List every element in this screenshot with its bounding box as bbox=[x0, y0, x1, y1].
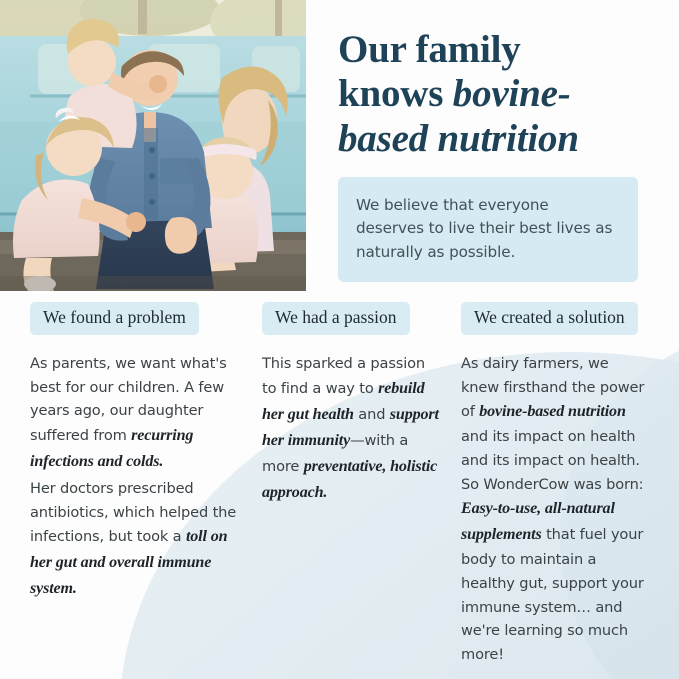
story-column-solution: We created a solution As dairy farmers, … bbox=[461, 302, 651, 666]
story-heading-passion: We had a passion bbox=[262, 302, 410, 335]
hero-right: Our family knows bovine- based nutrition… bbox=[338, 28, 658, 282]
headline-line-2: knows bovine- bbox=[338, 72, 658, 116]
plain-text: and its impact on health and its impact … bbox=[461, 428, 643, 492]
emphasis-text: bovine-based nutrition bbox=[479, 403, 625, 420]
plain-text: that fuel your body to maintain a health… bbox=[461, 526, 644, 663]
belief-quote-text: We believe that everyone deserves to liv… bbox=[356, 194, 620, 263]
plain-text: and bbox=[354, 406, 390, 423]
plain-text: As parents, we want what's best for our … bbox=[30, 355, 227, 444]
page-root: Our family knows bovine- based nutrition… bbox=[0, 0, 679, 679]
story-body-passion: This sparked a passion to find a way to … bbox=[262, 352, 442, 506]
story-body-problem: As parents, we want what's best for our … bbox=[30, 352, 245, 603]
story-paragraph: This sparked a passion to find a way to … bbox=[262, 352, 442, 506]
story-paragraph: As dairy farmers, we knew firsthand the … bbox=[461, 352, 651, 667]
story-column-problem: We found a problem As parents, we want w… bbox=[30, 302, 245, 602]
headline-line-2-plain: knows bbox=[338, 72, 453, 115]
story-heading-solution: We created a solution bbox=[461, 302, 638, 335]
story-paragraph: Her doctors prescribed antibiotics, whic… bbox=[30, 477, 245, 602]
belief-quote-box: We believe that everyone deserves to liv… bbox=[338, 177, 638, 281]
story-paragraph: As parents, we want what's best for our … bbox=[30, 352, 245, 475]
headline-line-3-emphasis: based nutrition bbox=[338, 117, 658, 161]
headline-line-2-emphasis: bovine- bbox=[453, 72, 571, 115]
story-column-passion: We had a passion This sparked a passion … bbox=[262, 302, 442, 506]
family-photo-illustration bbox=[0, 0, 306, 291]
family-photo bbox=[0, 0, 306, 291]
story-body-solution: As dairy farmers, we knew firsthand the … bbox=[461, 352, 651, 667]
story-columns: We found a problem As parents, we want w… bbox=[0, 302, 679, 679]
headline-line-1: Our family bbox=[338, 28, 658, 72]
page-title: Our family knows bovine- based nutrition bbox=[338, 28, 658, 161]
story-heading-problem: We found a problem bbox=[30, 302, 199, 335]
